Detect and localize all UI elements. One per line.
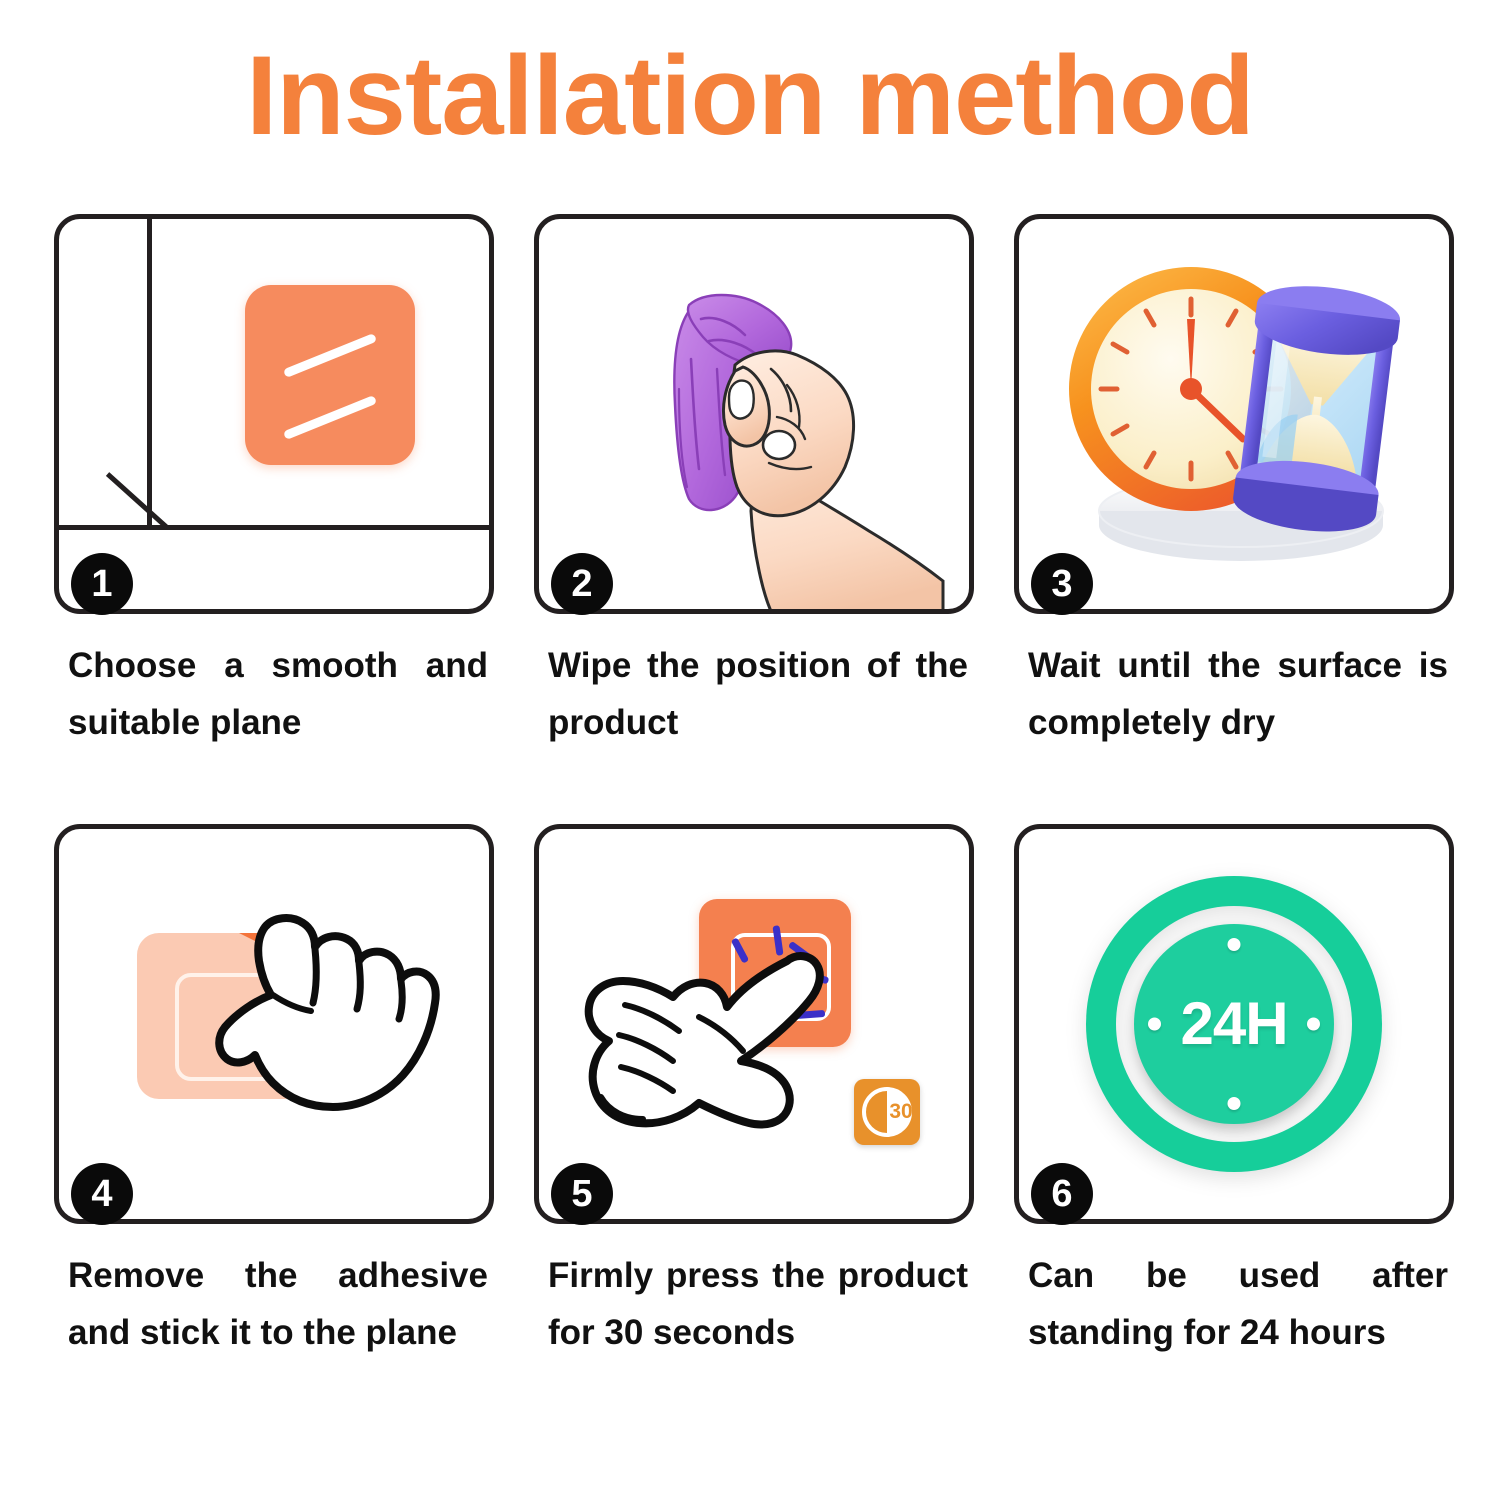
step-card-6: 24H 6 xyxy=(1014,824,1454,1224)
step-badge-3: 3 xyxy=(1031,553,1093,615)
step-caption-4: Remove the adhesive and stick it to the … xyxy=(68,1248,488,1361)
cartoon-hand-press-icon xyxy=(539,829,969,1219)
shine-stripe-icon xyxy=(283,333,377,378)
hand-holding-cloth-icon xyxy=(539,219,969,609)
steps-grid: 1 Choose a smooth and suitable plane xyxy=(54,214,1454,1494)
step-card-5: 30 5 xyxy=(534,824,974,1224)
marker-dot-icon xyxy=(1228,1097,1241,1110)
step-illustration-2 xyxy=(539,219,969,609)
step-illustration-3 xyxy=(1019,219,1449,609)
clock-hourglass-icon xyxy=(1019,219,1449,609)
step-cell-5: 30 5 Firmly press the product for 30 sec… xyxy=(534,824,994,1494)
step-cell-1: 1 Choose a smooth and suitable plane xyxy=(54,214,514,824)
step-caption-3: Wait until the surface is completely dry xyxy=(1028,638,1448,751)
outer-ring-icon: 24H xyxy=(1086,876,1382,1172)
product-square-icon xyxy=(245,285,415,465)
inner-disc-icon: 24H xyxy=(1134,924,1334,1124)
step-cell-6: 24H 6 Can be used after standing for 24 … xyxy=(1014,824,1474,1494)
page-title: Installation method xyxy=(0,34,1500,157)
step-illustration-5: 30 xyxy=(539,829,969,1219)
step-caption-1: Choose a smooth and suitable plane xyxy=(68,638,488,751)
wall-diagonal-line-icon xyxy=(106,472,169,529)
marker-dot-icon xyxy=(1148,1018,1161,1031)
step-badge-6: 6 xyxy=(1031,1163,1093,1225)
step-illustration-6: 24H xyxy=(1019,829,1449,1219)
step-cell-2: 2 Wipe the position of the product xyxy=(534,214,994,824)
step-badge-1: 1 xyxy=(71,553,133,615)
badge-24h-label: 24H xyxy=(1180,994,1287,1054)
step-card-4: 4 xyxy=(54,824,494,1224)
wall-horizontal-line-icon xyxy=(59,525,489,530)
step-card-3: 3 xyxy=(1014,214,1454,614)
marker-dot-icon xyxy=(1228,938,1241,951)
step-badge-4: 4 xyxy=(71,1163,133,1225)
cartoon-hand-peel-icon xyxy=(59,829,489,1219)
installation-method-infographic: Installation method 1 Choose a smooth an… xyxy=(0,0,1500,1500)
step-caption-2: Wipe the position of the product xyxy=(548,638,968,751)
step-illustration-4 xyxy=(59,829,489,1219)
wall-vertical-line-icon xyxy=(147,219,152,527)
step-illustration-1 xyxy=(59,219,489,609)
step-caption-6: Can be used after standing for 24 hours xyxy=(1028,1248,1448,1361)
shine-stripe-icon xyxy=(283,395,377,440)
step-cell-3: 3 Wait until the surface is completely d… xyxy=(1014,214,1474,824)
step-card-2: 2 xyxy=(534,214,974,614)
step-caption-5: Firmly press the product for 30 seconds xyxy=(548,1248,968,1361)
step-badge-5: 5 xyxy=(551,1163,613,1225)
marker-dot-icon xyxy=(1307,1018,1320,1031)
step-card-1: 1 xyxy=(54,214,494,614)
step-cell-4: 4 Remove the adhesive and stick it to th… xyxy=(54,824,514,1494)
step-badge-2: 2 xyxy=(551,553,613,615)
